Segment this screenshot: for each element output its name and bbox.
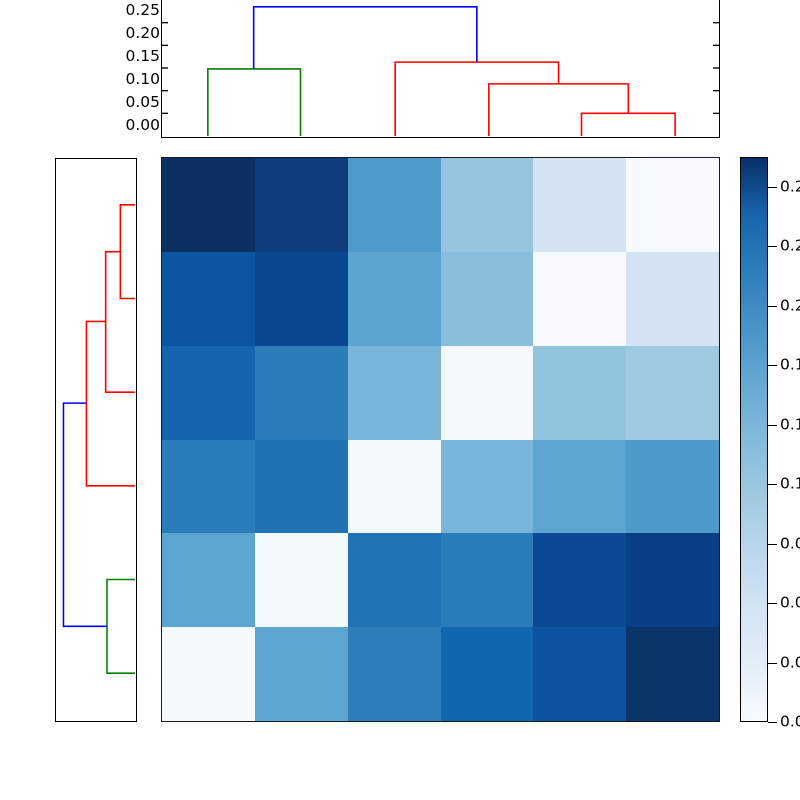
row-dendro-link-r5 — [63, 403, 107, 626]
column-dendrogram-panel — [161, 0, 720, 138]
col-axis-tick-0.25: 0.25 — [125, 3, 160, 19]
heatmap-cell-r0-c3[interactable] — [441, 158, 534, 252]
heatmap-cell-r3-c5[interactable] — [626, 440, 719, 534]
heatmap-cell-r0-c1[interactable] — [255, 158, 348, 252]
heatmap-cell-r4-c3[interactable] — [441, 533, 534, 627]
heatmap-cell-r0-c2[interactable] — [348, 158, 441, 252]
colorbar-tick-label-0.06: 0.06 — [780, 595, 800, 611]
heatmap-cell-r4-c5[interactable] — [626, 533, 719, 627]
colorbar-gradient — [740, 157, 768, 722]
colorbar-tickmark-0.21 — [768, 306, 777, 307]
heatmap-cell-r4-c2[interactable] — [348, 533, 441, 627]
colorbar-tickmark-0.15 — [768, 425, 777, 426]
row-dendro-link-r3 — [86, 321, 135, 485]
colorbar-tickmark-0.06 — [768, 603, 777, 604]
colorbar-tickmark-0.00 — [768, 722, 777, 723]
col-dendro-link-c3 — [489, 84, 628, 136]
heatmap-cell-r2-c2[interactable] — [348, 346, 441, 440]
row-dendro-link-r4 — [107, 580, 135, 674]
heatmap-cell-r0-c5[interactable] — [626, 158, 719, 252]
heatmap-cell-r1-c0[interactable] — [162, 252, 255, 346]
colorbar-tick-label-0.15: 0.15 — [780, 417, 800, 433]
heatmap-cell-r4-c0[interactable] — [162, 533, 255, 627]
column-dendrogram-svg — [162, 0, 719, 137]
heatmap-cell-r5-c0[interactable] — [162, 627, 255, 721]
col-axis-tick-0.20: 0.20 — [125, 26, 160, 42]
heatmap-cell-r5-c2[interactable] — [348, 627, 441, 721]
colorbar-tick-label-0.18: 0.18 — [780, 357, 800, 373]
heatmap-cell-r1-c3[interactable] — [441, 252, 534, 346]
colorbar-tick-label-0.12: 0.12 — [780, 476, 800, 492]
heatmap-cell-r3-c1[interactable] — [255, 440, 348, 534]
heatmap-cell-r0-c4[interactable] — [533, 158, 626, 252]
colorbar-tick-label-0.21: 0.21 — [780, 298, 800, 314]
heatmap-cell-r2-c1[interactable] — [255, 346, 348, 440]
colorbar-tick-label-0.24: 0.24 — [780, 238, 800, 254]
heatmap-cell-r1-c4[interactable] — [533, 252, 626, 346]
colorbar-tick-label-0.03: 0.03 — [780, 655, 800, 671]
colorbar-tick-label-0.27: 0.27 — [780, 179, 800, 195]
heatmap-cell-r5-c1[interactable] — [255, 627, 348, 721]
col-dendro-link-c2 — [581, 113, 675, 136]
heatmap-cell-r3-c2[interactable] — [348, 440, 441, 534]
heatmap-cell-r4-c1[interactable] — [255, 533, 348, 627]
heatmap-cell-r5-c4[interactable] — [533, 627, 626, 721]
heatmap-cell-r2-c0[interactable] — [162, 346, 255, 440]
colorbar-tickmark-0.18 — [768, 365, 777, 366]
row-dendro-link-r1 — [120, 205, 135, 299]
heatmap-cell-r1-c2[interactable] — [348, 252, 441, 346]
col-axis-tick-0.10: 0.10 — [125, 72, 160, 88]
heatmap-cell-r2-c5[interactable] — [626, 346, 719, 440]
colorbar-tickmark-0.24 — [768, 246, 777, 247]
colorbar-tick-label-0.00: 0.00 — [780, 714, 800, 730]
col-dendro-link-c1 — [208, 69, 301, 136]
column-dendrogram-axis-labels: 0.30 0.25 0.20 0.15 0.10 0.05 0.00 — [118, 0, 160, 148]
colorbar-tick-label-0.09: 0.09 — [780, 536, 800, 552]
heatmap-cell-r3-c4[interactable] — [533, 440, 626, 534]
heatmap-cell-r3-c0[interactable] — [162, 440, 255, 534]
heatmap-grid[interactable] — [161, 157, 720, 722]
col-axis-tick-0.00: 0.00 — [125, 118, 160, 134]
heatmap-cell-r1-c1[interactable] — [255, 252, 348, 346]
col-dendro-link-c4 — [395, 62, 558, 136]
row-dendrogram-panel — [55, 158, 137, 722]
heatmap-cell-r1-c5[interactable] — [626, 252, 719, 346]
col-dendro-link-c5 — [254, 7, 477, 69]
heatmap-cell-r2-c3[interactable] — [441, 346, 534, 440]
colorbar-tickmark-0.12 — [768, 484, 777, 485]
clustermap-figure: 0.30 0.25 0.20 0.15 0.10 0.05 0.00 0.000… — [0, 0, 800, 800]
colorbar-tickmark-0.03 — [768, 663, 777, 664]
colorbar-tickmark-0.09 — [768, 544, 777, 545]
heatmap-cell-r3-c3[interactable] — [441, 440, 534, 534]
heatmap-cell-r2-c4[interactable] — [533, 346, 626, 440]
heatmap-cell-r5-c5[interactable] — [626, 627, 719, 721]
heatmap-cell-r0-c0[interactable] — [162, 158, 255, 252]
col-axis-tick-0.05: 0.05 — [125, 95, 160, 111]
colorbar-tickmark-0.27 — [768, 187, 777, 188]
heatmap-cell-r5-c3[interactable] — [441, 627, 534, 721]
row-dendrogram-svg — [56, 159, 136, 721]
heatmap-cell-r4-c4[interactable] — [533, 533, 626, 627]
col-axis-tick-0.15: 0.15 — [125, 49, 160, 65]
